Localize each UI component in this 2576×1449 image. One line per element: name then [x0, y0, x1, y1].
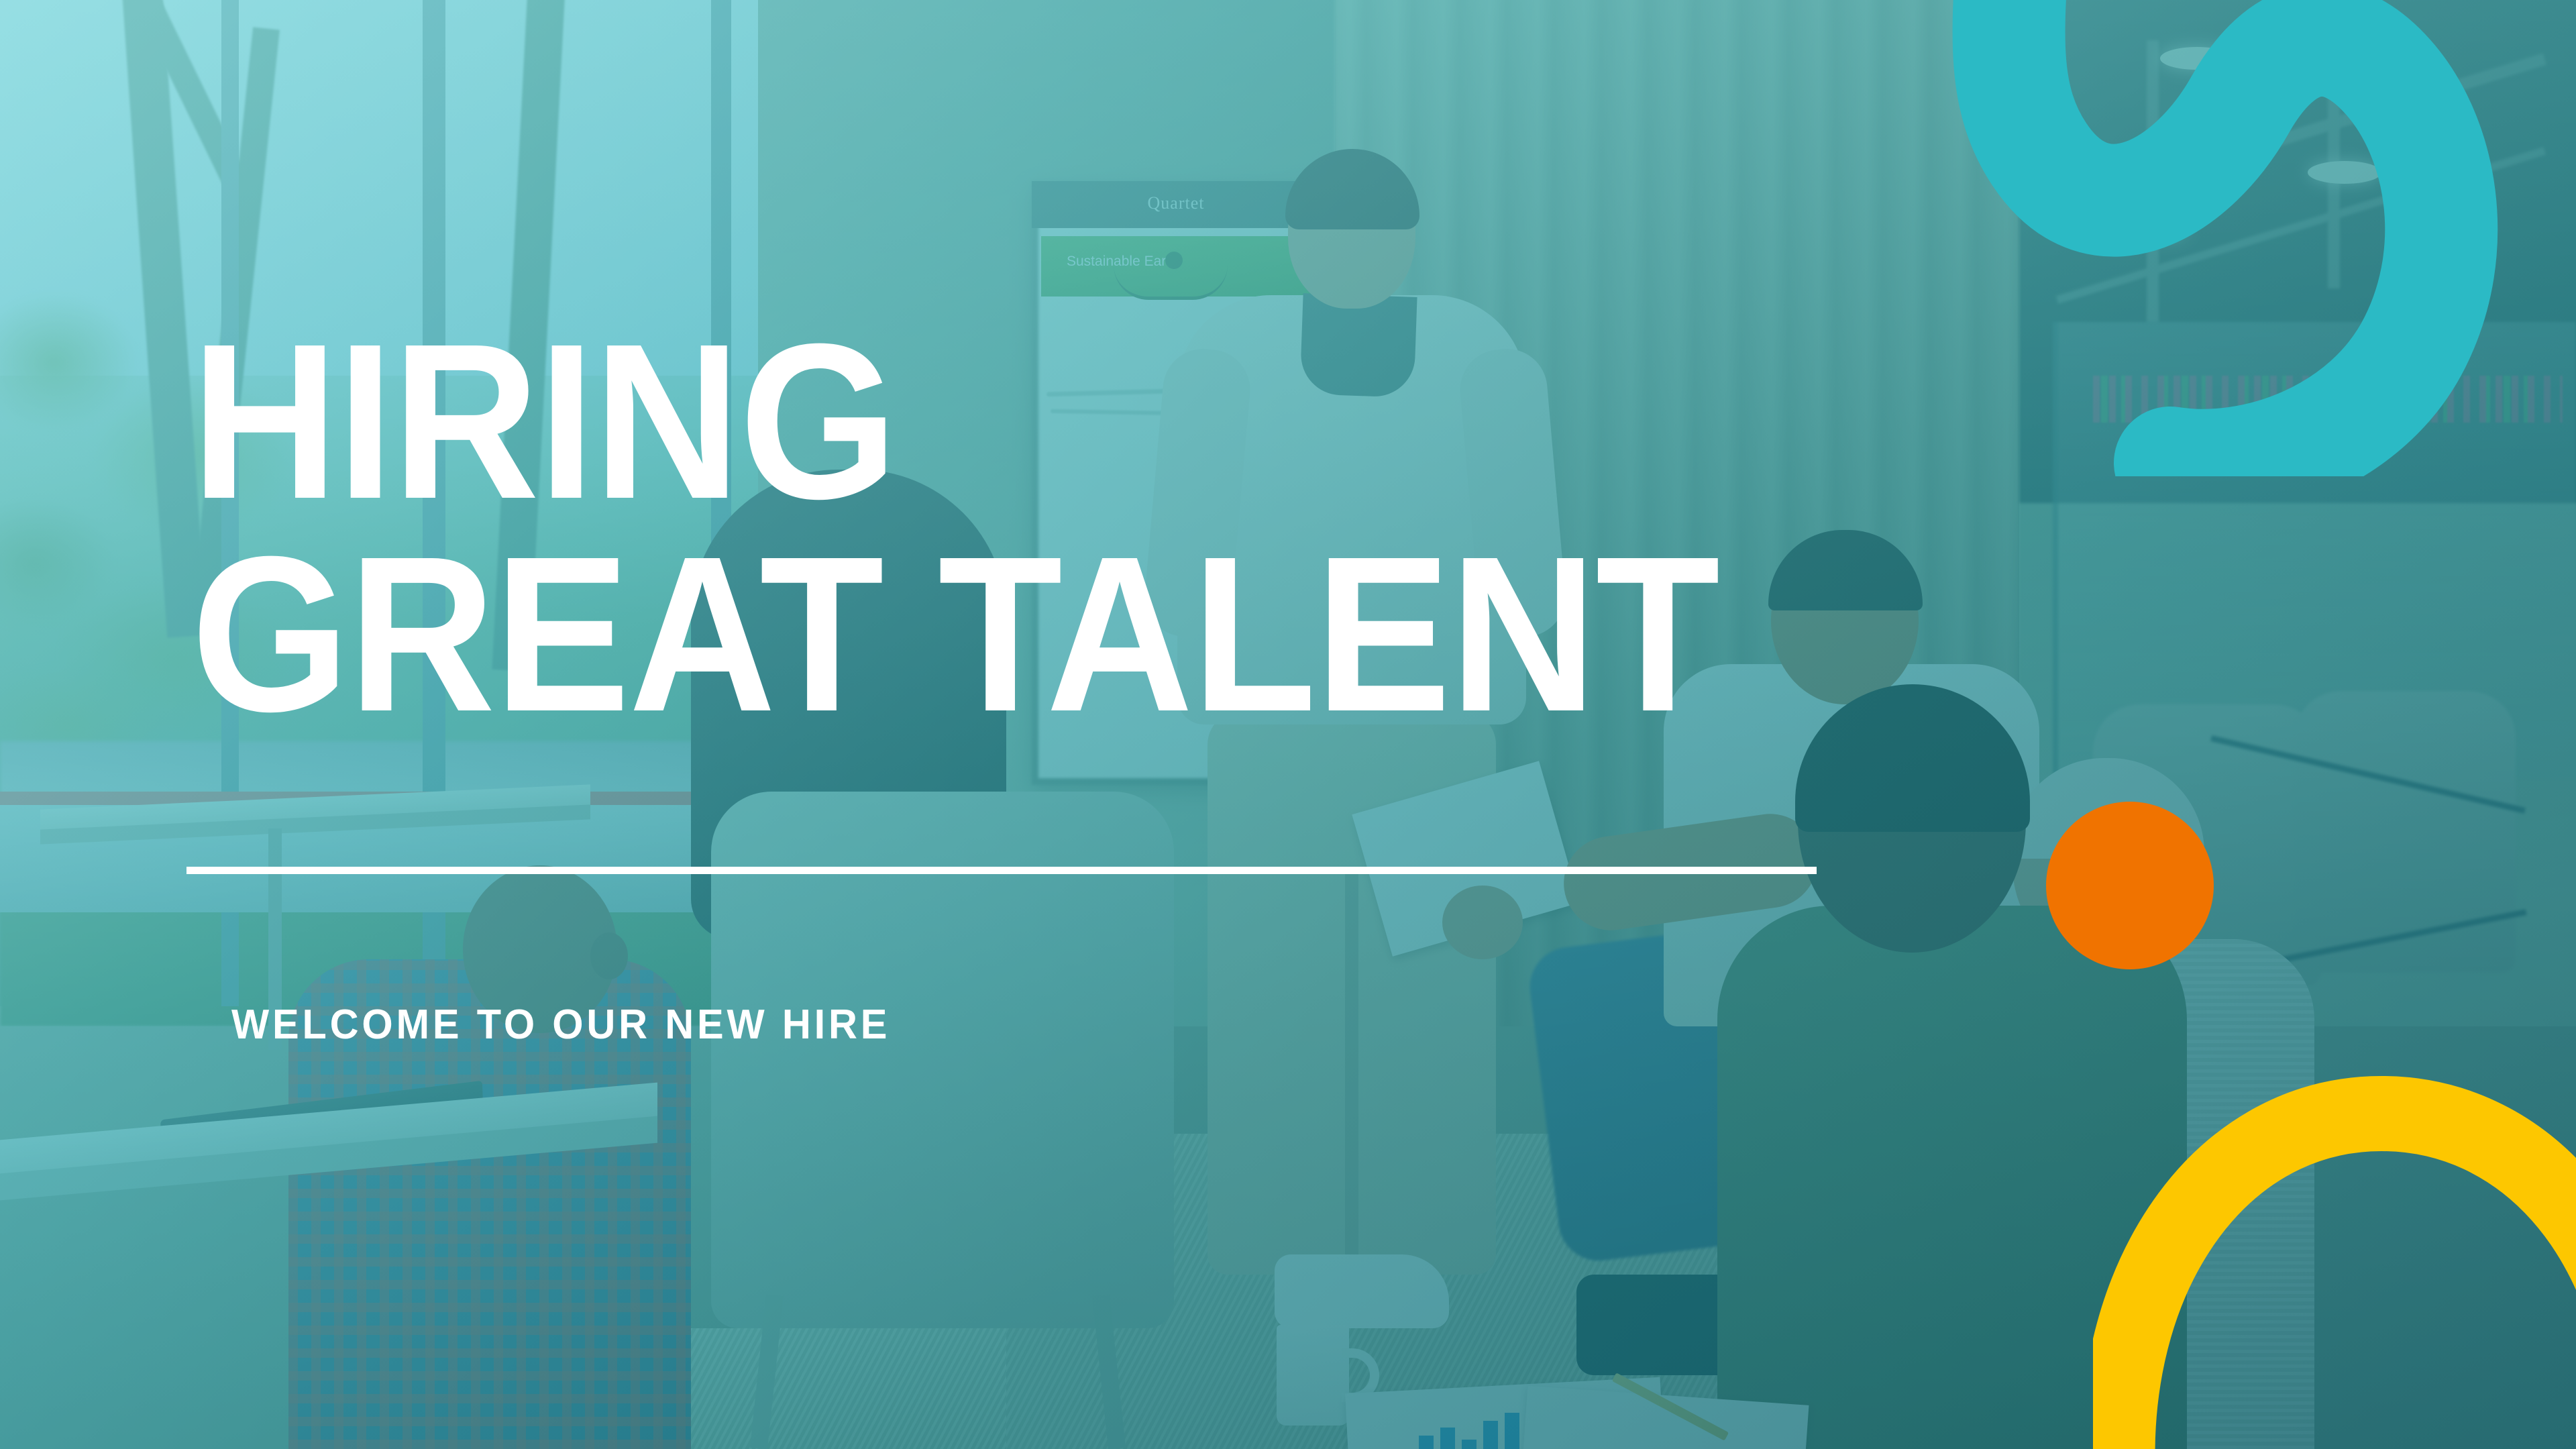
hiring-banner: Quartet Sustainable Earth: [0, 0, 2576, 1449]
headline-line-2: GREAT TALENT: [191, 528, 1719, 741]
divider-rule: [186, 867, 1817, 874]
banner-subtitle: WELCOME TO OUR NEW HIRE: [231, 1001, 890, 1049]
page-title: HIRING GREAT TALENT: [191, 315, 1719, 741]
headline-line-1: HIRING: [191, 315, 1719, 528]
banner-content: HIRING GREAT TALENT WELCOME TO OUR NEW H…: [0, 0, 2576, 1449]
